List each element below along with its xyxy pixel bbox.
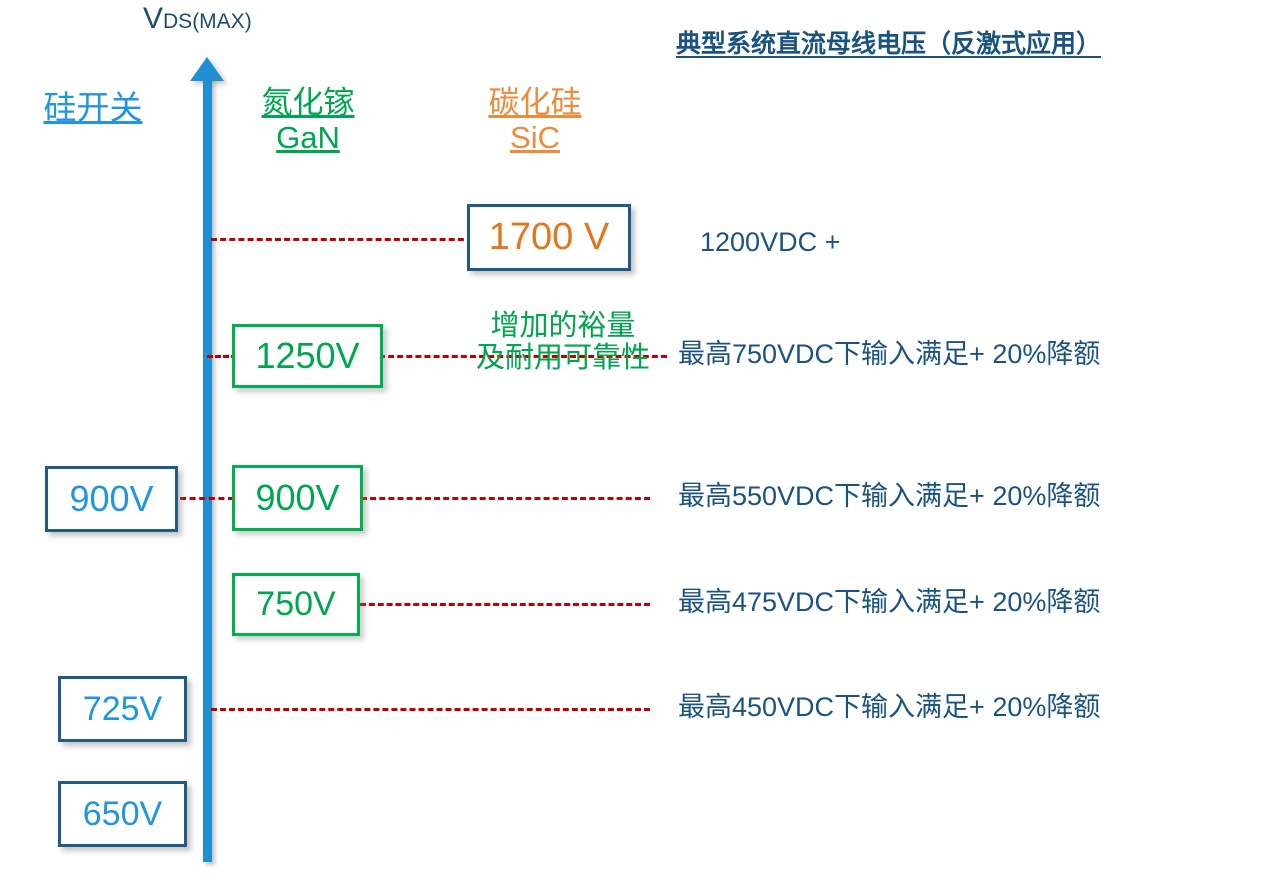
value-box-gan-750[interactable]: 750V — [232, 573, 360, 636]
value-box-si-650[interactable]: 650V — [58, 781, 187, 847]
column-header-gan-cn: 氮化镓 — [228, 86, 388, 121]
axis-label-subscript: DS(MAX) — [163, 10, 252, 33]
bus-note-750vdc: 最高750VDC下输入满足+ 20%降额 — [678, 341, 1100, 368]
column-header-sic-en: SiC — [455, 121, 615, 156]
dash-connector-725 — [211, 708, 650, 711]
vds-max-axis-line — [203, 72, 212, 862]
page-title: 典型系统直流母线电压（反激式应用） — [676, 24, 1101, 60]
dash-connector-750 — [360, 603, 650, 606]
value-box-si-725[interactable]: 725V — [58, 676, 187, 742]
bus-note-1200vdc: 1200VDC + — [700, 229, 840, 256]
axis-label-vds-max: VDS(MAX) — [143, 4, 252, 34]
margin-reliability-note-line1: 增加的裕量 — [468, 310, 658, 342]
column-header-silicon-cn: 硅开关 — [8, 90, 178, 127]
margin-reliability-note-line2: 及耐用可靠性 — [468, 342, 658, 374]
value-box-sic-1700[interactable]: 1700 V — [467, 204, 631, 271]
diagram-canvas: VDS(MAX) 硅开关 氮化镓 GaN 碳化硅 SiC 典型系统直流母线电压（… — [0, 0, 1279, 885]
value-box-gan-900[interactable]: 900V — [232, 465, 363, 531]
dash-connector-900-right — [361, 497, 650, 500]
column-header-silicon: 硅开关 — [8, 90, 178, 127]
axis-label-main: V — [143, 2, 163, 35]
bus-note-550vdc: 最高550VDC下输入满足+ 20%降额 — [678, 483, 1100, 510]
value-box-si-900[interactable]: 900V — [45, 466, 178, 532]
bus-note-475vdc: 最高475VDC下输入满足+ 20%降额 — [678, 589, 1100, 616]
column-header-gan-en: GaN — [228, 121, 388, 156]
value-box-gan-1250[interactable]: 1250V — [232, 324, 383, 388]
dash-connector-900-left — [180, 497, 234, 500]
column-header-sic: 碳化硅 SiC — [455, 86, 615, 155]
bus-note-450vdc: 最高450VDC下输入满足+ 20%降额 — [678, 694, 1100, 721]
column-header-gan: 氮化镓 GaN — [228, 86, 388, 155]
column-header-sic-cn: 碳化硅 — [455, 86, 615, 121]
margin-reliability-note: 增加的裕量 及耐用可靠性 — [468, 310, 658, 375]
dash-connector-1700 — [211, 238, 473, 241]
